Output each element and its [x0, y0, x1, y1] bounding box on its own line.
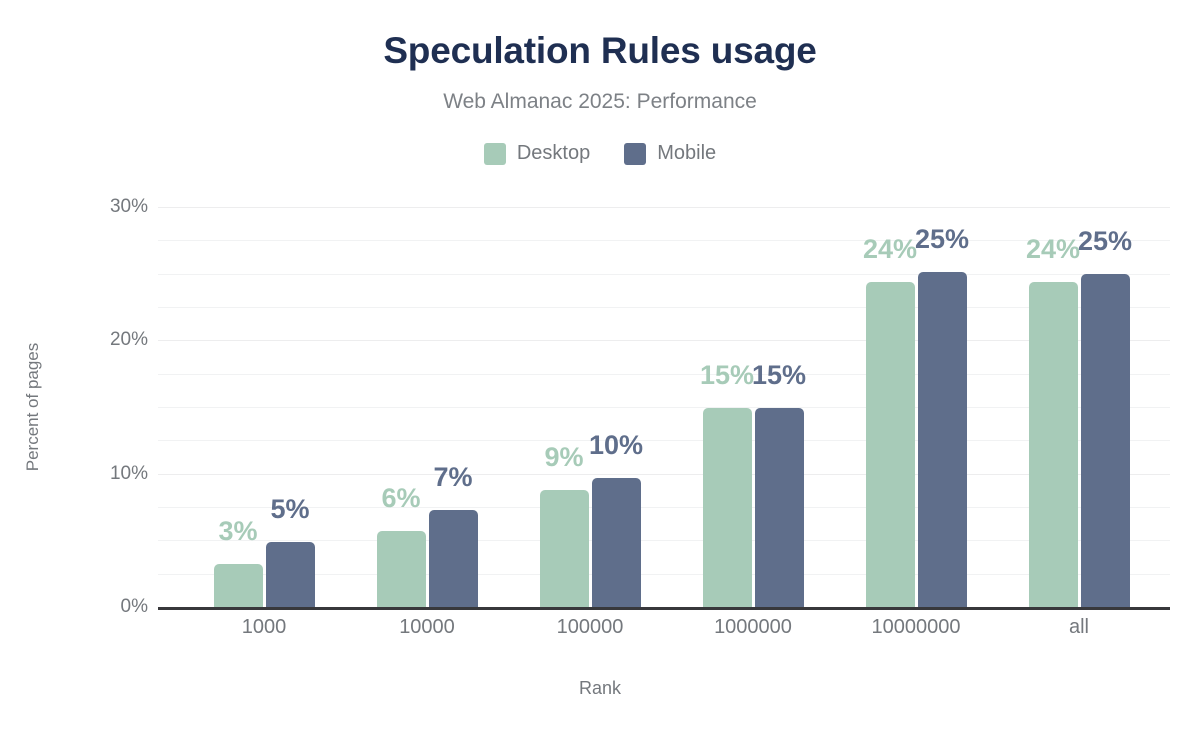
bar-mobile-1000[interactable]: [266, 542, 315, 607]
bar-value-label-mobile-1000000: 15%: [752, 360, 806, 391]
bar-mobile-all[interactable]: [1081, 274, 1130, 607]
bar-value-label-desktop-10000000: 24%: [863, 234, 917, 265]
gridline: [158, 274, 1170, 275]
bar-desktop-all[interactable]: [1029, 282, 1078, 607]
gridline: [158, 307, 1170, 308]
bar-value-label-mobile-all: 25%: [1078, 226, 1132, 257]
bar-mobile-10000[interactable]: [429, 510, 478, 607]
bar-value-label-desktop-1000: 3%: [218, 516, 257, 547]
gridline: [158, 474, 1170, 475]
x-axis-tick-label: all: [1069, 616, 1089, 639]
x-axis-line: [158, 607, 1170, 610]
x-axis-tick-label: 1000000: [714, 616, 792, 639]
gridline: [158, 207, 1170, 208]
legend-swatch-mobile: [624, 143, 646, 165]
bar-value-label-mobile-1000: 5%: [270, 494, 309, 525]
bar-desktop-100000[interactable]: [540, 490, 589, 607]
chart-title: Speculation Rules usage: [0, 30, 1200, 72]
legend-swatch-desktop: [484, 143, 506, 165]
bar-value-label-desktop-all: 24%: [1026, 234, 1080, 265]
y-axis-tick-label: 10%: [28, 463, 148, 485]
x-axis-tick-label: 100000: [557, 616, 624, 639]
bar-desktop-10000000[interactable]: [866, 282, 915, 607]
gridline: [158, 374, 1170, 375]
legend-item-desktop[interactable]: Desktop: [484, 142, 590, 165]
bar-value-label-desktop-100000: 9%: [544, 442, 583, 473]
x-axis-tick-label: 1000: [242, 616, 287, 639]
gridline: [158, 507, 1170, 508]
gridline: [158, 440, 1170, 441]
x-axis-tick-label: 10000000: [872, 616, 961, 639]
legend-label-desktop: Desktop: [517, 142, 590, 165]
bar-mobile-1000000[interactable]: [755, 408, 804, 607]
y-axis-tick-label: 20%: [28, 329, 148, 351]
bar-value-label-mobile-100000: 10%: [589, 430, 643, 461]
bar-desktop-1000[interactable]: [214, 564, 263, 607]
chart-container: Speculation Rules usage Web Almanac 2025…: [0, 0, 1200, 742]
legend-label-mobile: Mobile: [657, 142, 716, 165]
y-axis-title: Percent of pages: [23, 343, 43, 472]
chart-legend: Desktop Mobile: [0, 142, 1200, 165]
y-axis-tick-label: 0%: [28, 596, 148, 618]
bar-value-label-mobile-10000: 7%: [433, 462, 472, 493]
bar-value-label-mobile-10000000: 25%: [915, 224, 969, 255]
bar-value-label-desktop-10000: 6%: [381, 483, 420, 514]
bar-mobile-10000000[interactable]: [918, 272, 967, 607]
y-axis-tick-label: 30%: [28, 196, 148, 218]
chart-subtitle: Web Almanac 2025: Performance: [0, 90, 1200, 114]
bar-value-label-desktop-1000000: 15%: [700, 360, 754, 391]
legend-item-mobile[interactable]: Mobile: [624, 142, 716, 165]
bar-desktop-10000[interactable]: [377, 531, 426, 607]
x-axis-title: Rank: [0, 678, 1200, 699]
gridline: [158, 340, 1170, 341]
bar-mobile-100000[interactable]: [592, 478, 641, 607]
gridline: [158, 240, 1170, 241]
gridline: [158, 407, 1170, 408]
x-axis-tick-label: 10000: [399, 616, 455, 639]
bar-desktop-1000000[interactable]: [703, 408, 752, 607]
